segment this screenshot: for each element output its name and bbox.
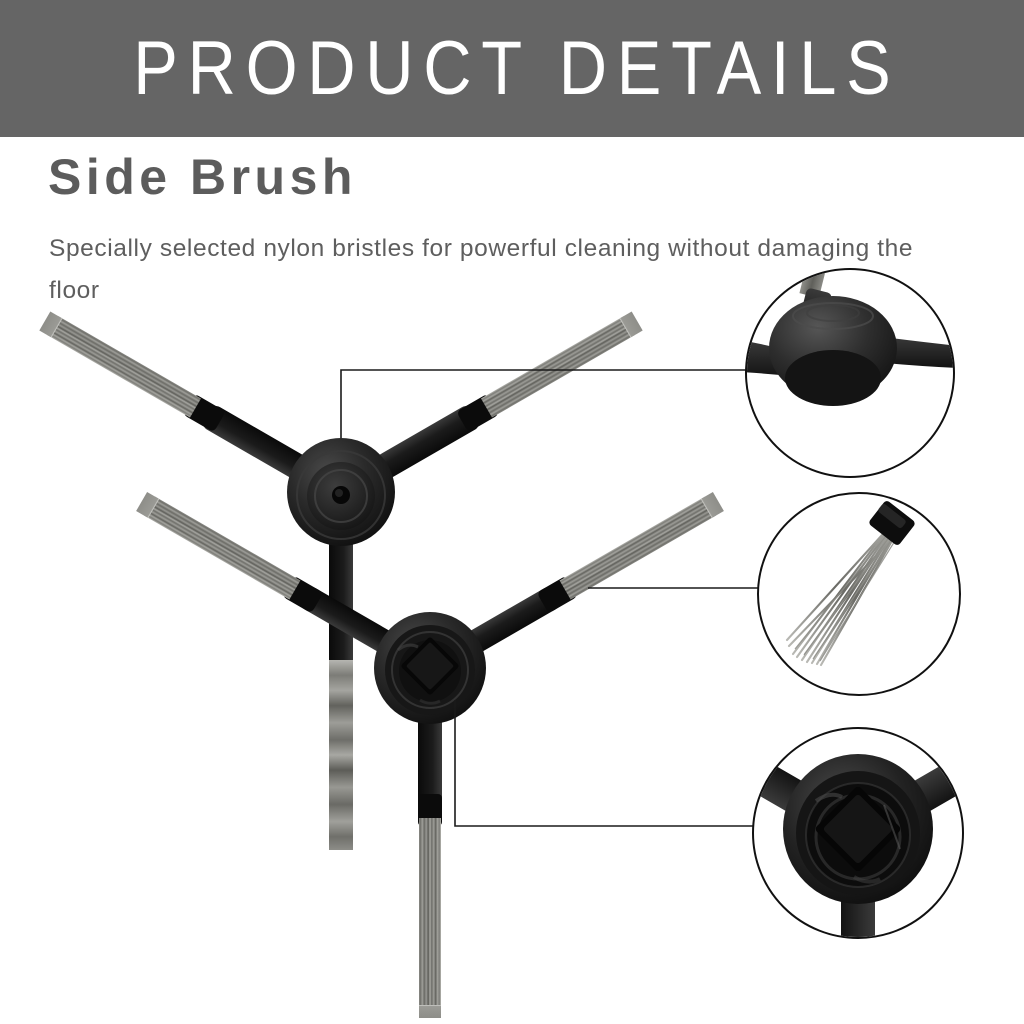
brush-hub-upper [287,438,395,546]
callout-bristle-tuft-art [759,494,959,694]
callout-drive-socket-art [754,729,962,937]
callout-bristle-tuft [757,492,961,696]
side-brush-upper [38,310,643,668]
side-brush-lower [136,491,725,1018]
callout-hub-dome-art [747,270,953,476]
product-detail-page: PRODUCT DETAILS Side Brush Specially sel… [0,0,1024,1024]
leader-lines [341,370,800,826]
callout-hub-dome [745,268,955,478]
callout-drive-socket [752,727,964,939]
brush-hub-lower [374,612,486,724]
section-heading: Side Brush [48,150,357,205]
leader-line-1 [341,370,790,438]
leader-line-3 [455,700,800,826]
page-title: PRODUCT DETAILS [61,0,962,137]
